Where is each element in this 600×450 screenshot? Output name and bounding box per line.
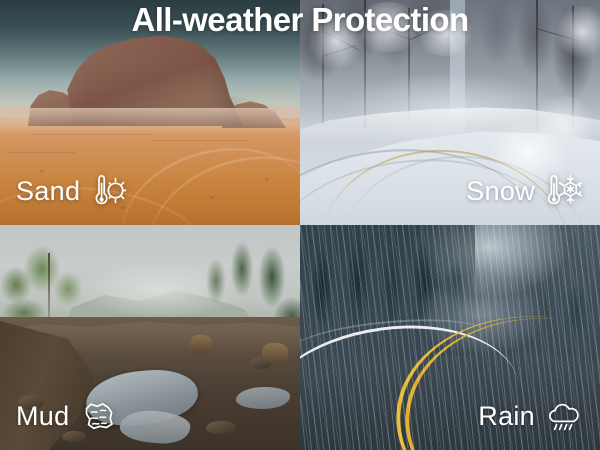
label-snow: Snow (466, 171, 584, 211)
sand-speck (210, 196, 215, 199)
page-title: All-weather Protection (0, 2, 600, 39)
mud-tree-stump (190, 335, 212, 353)
quadrant-rain[interactable]: Rain (300, 225, 600, 450)
label-rain: Rain (478, 396, 584, 436)
label-sand-text: Sand (16, 178, 80, 205)
label-mud: Mud (16, 396, 118, 436)
label-mud-text: Mud (16, 403, 69, 430)
sand-texture-line (30, 134, 150, 135)
all-weather-banner: Sand (0, 0, 600, 450)
quadrant-mud[interactable]: Mud (0, 225, 300, 450)
sand-texture-line (150, 140, 250, 141)
thermometer-snowflake-icon (544, 171, 584, 211)
thermometer-sun-icon (89, 171, 129, 211)
desert-haze (0, 108, 300, 134)
sand-speck (265, 178, 269, 181)
label-sand: Sand (16, 171, 129, 211)
mud-tree-stump (262, 343, 288, 363)
sand-texture-line (6, 152, 76, 153)
mud-splash-icon (78, 396, 118, 436)
label-rain-text: Rain (478, 403, 535, 430)
label-snow-text: Snow (466, 178, 535, 205)
rain-cloud-icon (544, 396, 584, 436)
